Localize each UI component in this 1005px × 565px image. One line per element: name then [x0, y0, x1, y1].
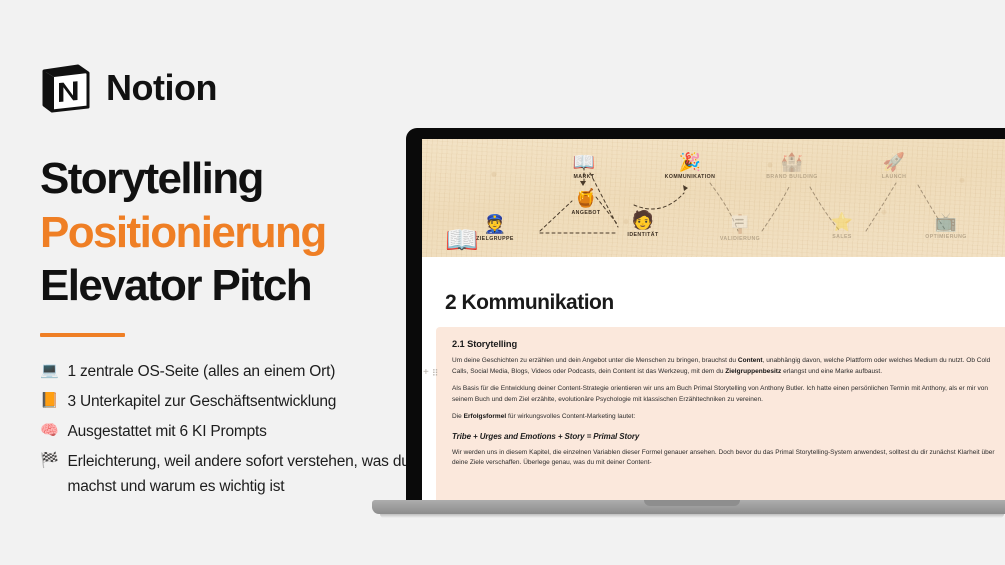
laptop-icon: 💻 [40, 359, 58, 383]
bold-term-content: Content [738, 357, 763, 364]
roadmap-node-launch: 🚀 LAUNCH [848, 153, 940, 180]
roadmap-node-label: SALES [796, 234, 888, 240]
bold-term-erfolgsformel: Erfolgsformel [464, 413, 507, 420]
notion-logo-icon [40, 62, 92, 114]
callout-paragraph-4: Wir werden uns in diesem Kapitel, die ei… [452, 448, 1005, 469]
laptop-base [372, 500, 1005, 514]
laptop-notch [644, 500, 740, 506]
text-run: Die [452, 413, 464, 420]
list-item-label: Ausgestattet mit 6 KI Prompts [67, 419, 266, 444]
roadmap-node-label: IDENTITÄT [597, 232, 689, 238]
roadmap-node-markt: 📖 MARKT [538, 153, 630, 180]
laptop-shadow [380, 514, 1004, 518]
primal-story-formula: Tribe + Urges and Emotions + Story = Pri… [452, 432, 1005, 441]
brand-name: Notion [106, 70, 217, 106]
roadmap-node-label: VALIDIERUNG [694, 236, 786, 242]
add-block-icon[interactable]: + [423, 368, 429, 378]
honey-pot-icon: 🍯 [540, 189, 632, 207]
laptop-screen-bezel: 📖 MARKT 👮 ZIELGRUPPE 🍯 ANGEBOT 🧑 IDENTIT… [406, 128, 1005, 500]
megaphone-icon: 🎉 [644, 153, 736, 171]
brain-icon: 🧠 [40, 419, 58, 443]
callout-paragraph-2: Als Basis für die Entwicklung deiner Con… [452, 384, 1005, 405]
text-run: Um deine Geschichten zu erzählen und dei… [452, 357, 738, 364]
feature-bullet-list: 💻 1 zentrale OS-Seite (alles an einem Or… [40, 359, 440, 500]
accent-divider [40, 333, 125, 337]
list-item: 🧠 Ausgestattet mit 6 KI Prompts [40, 419, 440, 444]
list-item-label: Erleichterung, weil andere sofort verste… [67, 449, 440, 499]
headline-line-3: Elevator Pitch [40, 259, 440, 313]
bold-term-zielgruppenbesitz: Zielgruppenbesitz [725, 368, 781, 375]
list-item: 🏁 Erleichterung, weil andere sofort vers… [40, 449, 440, 499]
notion-document-body: 2 Kommunikation + ⠿ 2.1 Storytelling Um … [422, 257, 1005, 500]
roadmap-node-label: KOMMUNIKATION [644, 174, 736, 180]
notion-page: 📖 MARKT 👮 ZIELGRUPPE 🍯 ANGEBOT 🧑 IDENTIT… [422, 139, 1005, 500]
list-item: 💻 1 zentrale OS-Seite (alles an einem Or… [40, 359, 440, 384]
roadmap-node-kommunikation: 🎉 KOMMUNIKATION [644, 153, 736, 180]
brand-lockup: Notion [40, 62, 440, 114]
checkered-flag-icon: 🏁 [40, 449, 58, 473]
promo-slide: Notion Storytelling Positionierung Eleva… [0, 0, 1005, 565]
open-book-icon: 📖 [538, 153, 630, 171]
book-icon: 📙 [40, 389, 58, 413]
roadmap-node-label: LAUNCH [848, 174, 940, 180]
person-icon: 🧑 [597, 211, 689, 229]
block-controls[interactable]: + ⠿ [423, 368, 436, 378]
text-run: für wirkungsvolles Content-Marketing lau… [506, 413, 635, 420]
callout-paragraph-3: Die Erfolgsformel für wirkungsvolles Con… [452, 412, 1005, 423]
page-emoji-icon[interactable]: 📖 [445, 227, 479, 254]
section-subheading: 2.1 Storytelling [452, 339, 1005, 349]
rocket-icon: 🚀 [848, 153, 940, 171]
headline: Storytelling Positionierung Elevator Pit… [40, 152, 440, 313]
roadmap-node-label: BRAND BUILDING [746, 174, 838, 180]
roadmap-node-label: MARKT [538, 174, 630, 180]
roadmap-node-brand-building: 🏰 BRAND BUILDING [746, 153, 838, 180]
roadmap-node-optimierung: 📺 OPTIMIERUNG [900, 213, 992, 240]
callout-block: + ⠿ 2.1 Storytelling Um deine Geschichte… [436, 327, 1005, 500]
roadmap-node-validierung: 🪧 VALIDIERUNG [694, 215, 786, 242]
page-cover-image: 📖 MARKT 👮 ZIELGRUPPE 🍯 ANGEBOT 🧑 IDENTIT… [422, 139, 1005, 257]
headline-line-2: Positionierung [40, 206, 440, 260]
text-run: erlangst und eine Marke aufbaust. [781, 368, 882, 375]
roadmap-node-identitaet: 🧑 IDENTITÄT [597, 211, 689, 238]
list-item-label: 3 Unterkapitel zur Geschäftsentwicklung [67, 389, 336, 414]
page-title: 2 Kommunikation [445, 291, 1005, 315]
star-icon: ⭐ [796, 213, 888, 231]
castle-icon: 🏰 [746, 153, 838, 171]
open-sign-icon: 🪧 [694, 215, 786, 233]
roadmap-node-label: OPTIMIERUNG [900, 234, 992, 240]
left-content-panel: Notion Storytelling Positionierung Eleva… [40, 62, 440, 500]
drag-handle-icon[interactable]: ⠿ [432, 369, 437, 378]
list-item-label: 1 zentrale OS-Seite (alles an einem Ort) [67, 359, 335, 384]
callout-paragraph-1: Um deine Geschichten zu erzählen und dei… [452, 356, 1005, 377]
list-item: 📙 3 Unterkapitel zur Geschäftsentwicklun… [40, 389, 440, 414]
television-icon: 📺 [900, 213, 992, 231]
headline-line-1: Storytelling [40, 152, 440, 206]
laptop-mockup: 📖 MARKT 👮 ZIELGRUPPE 🍯 ANGEBOT 🧑 IDENTIT… [406, 128, 1005, 518]
roadmap-node-sales: ⭐ SALES [796, 213, 888, 240]
